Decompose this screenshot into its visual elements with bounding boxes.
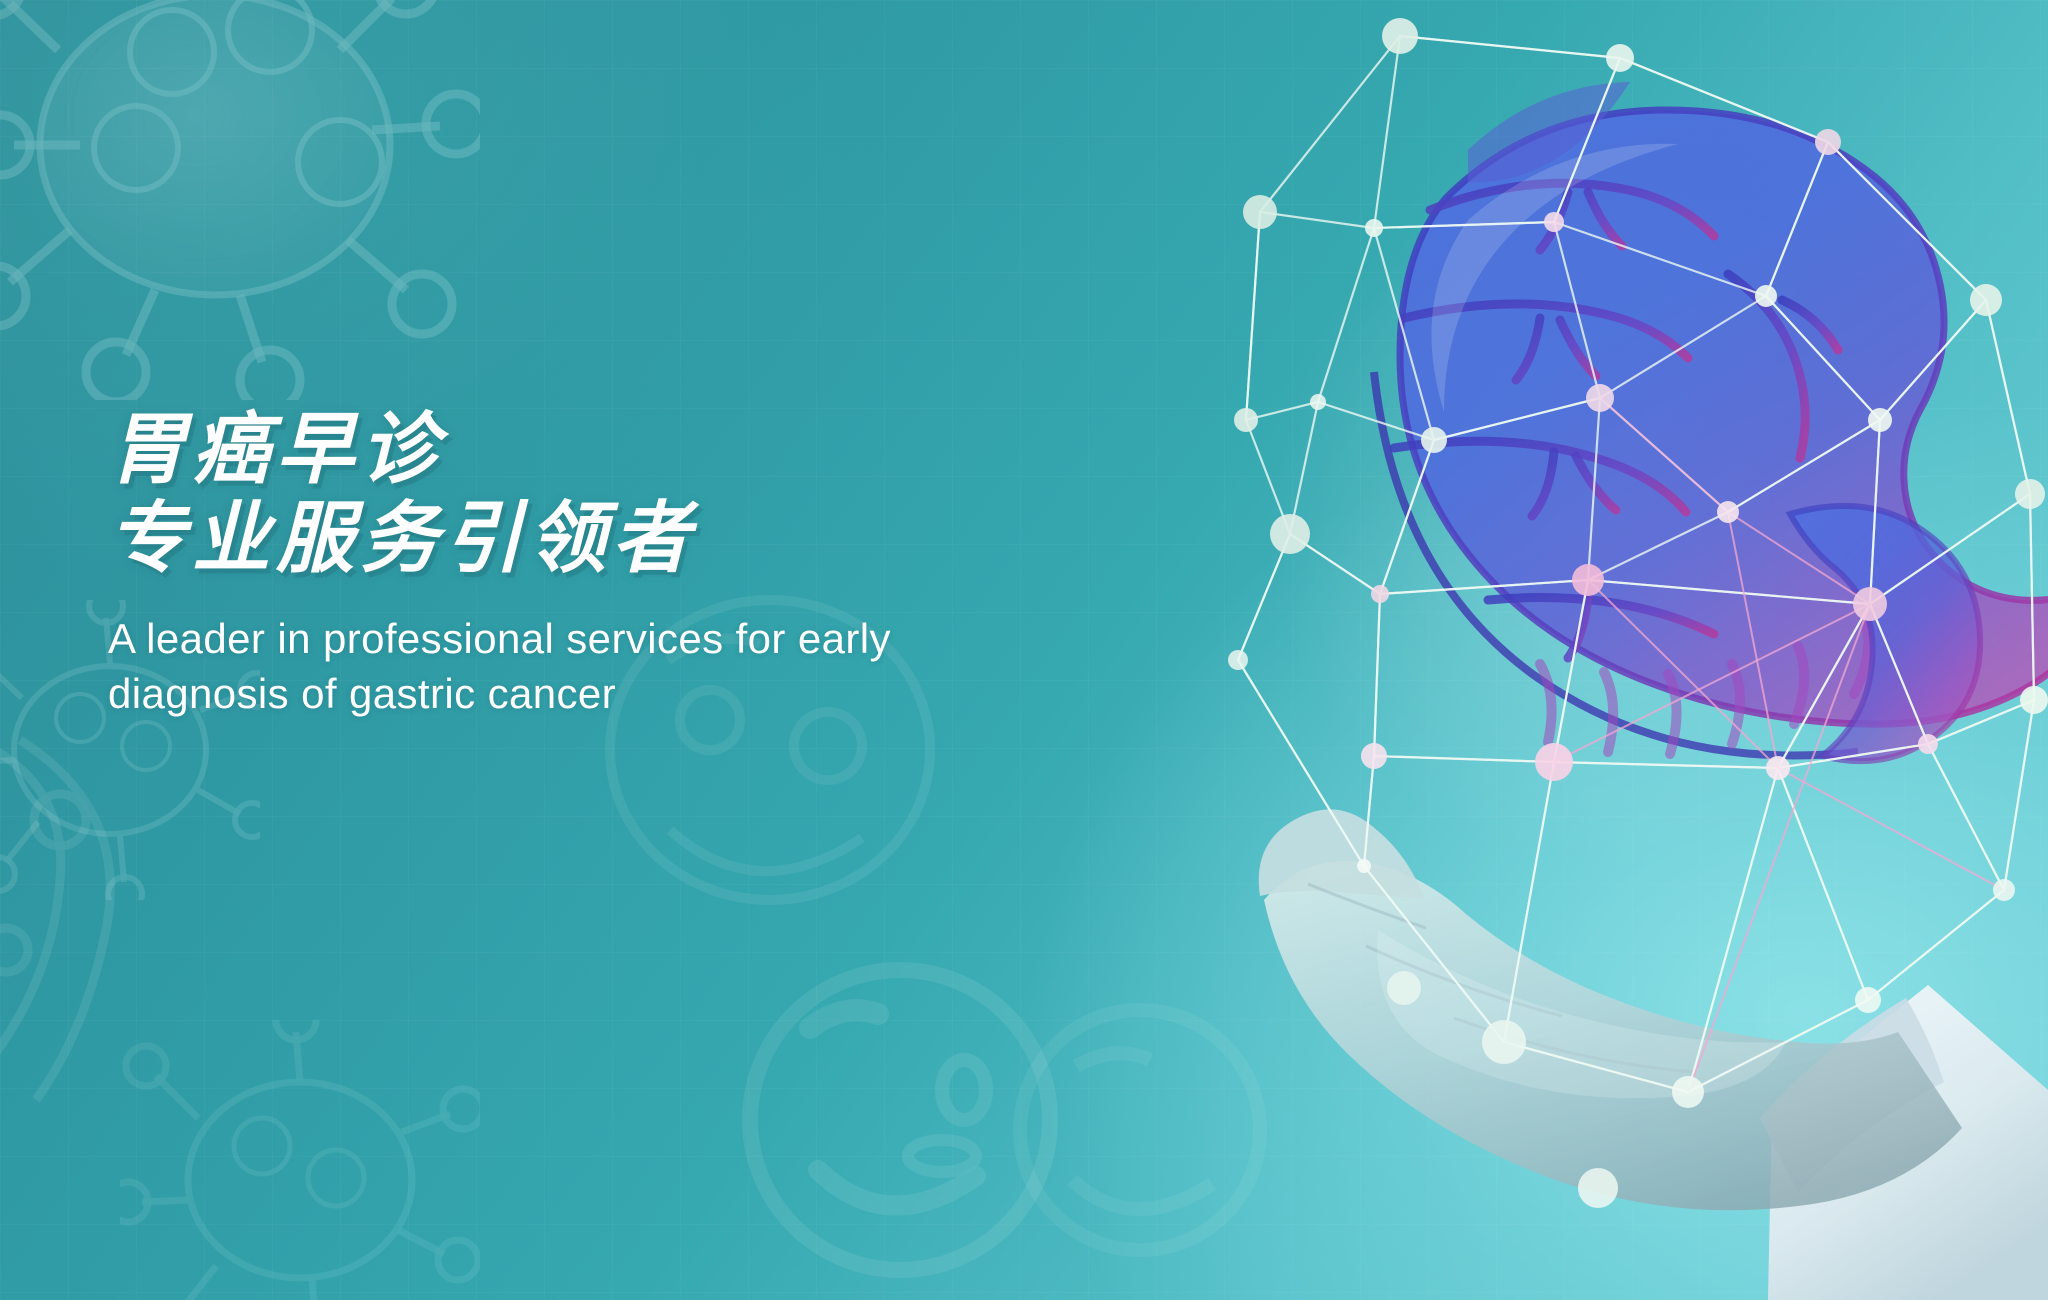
headline-line-1: 胃癌早诊 bbox=[108, 405, 444, 493]
subtitle-line-1: A leader in professional services for ea… bbox=[108, 611, 1118, 666]
page-title: 胃癌早诊 专业服务引领者 bbox=[108, 405, 1158, 583]
cell-blob-bottom-left bbox=[0, 700, 270, 1120]
stomach-in-hand-illustration bbox=[1168, 0, 2048, 1300]
subtitle-line-2: diagnosis of gastric cancer bbox=[108, 666, 1118, 721]
hand-index-finger bbox=[1259, 809, 1424, 898]
headline-line-2: 专业服务引领者 bbox=[108, 494, 1158, 583]
hero-banner: 胃癌早诊 专业服务引领者 A leader in professional se… bbox=[0, 0, 2048, 1300]
hero-copy: 胃癌早诊 专业服务引领者 A leader in professional se… bbox=[108, 405, 1158, 722]
virus-particle-top-left bbox=[0, 0, 480, 400]
page-subtitle: A leader in professional services for ea… bbox=[108, 611, 1118, 722]
cell-blob-center bbox=[690, 920, 1110, 1300]
virus-particle-lower-left bbox=[120, 1020, 480, 1300]
